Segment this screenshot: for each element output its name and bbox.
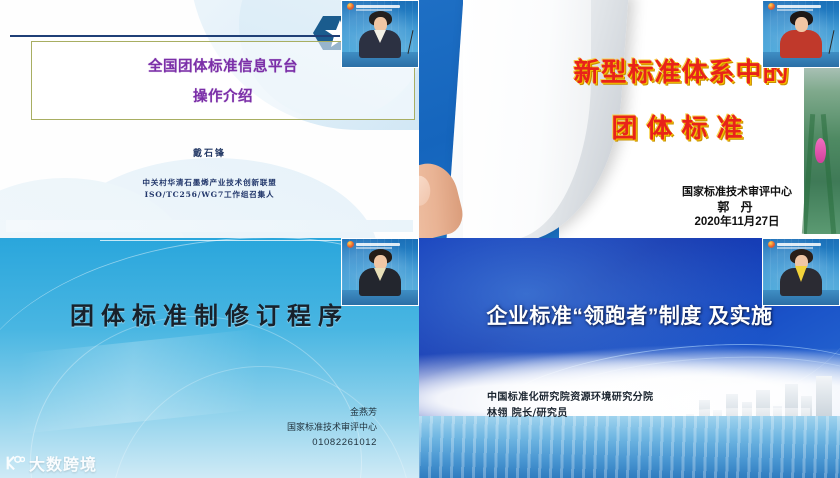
slide1-title-line2: 操作介绍 (193, 85, 253, 106)
slide2-date: 2020年11月27日 (682, 215, 792, 230)
video-person (780, 252, 822, 296)
slide4-presenter: 林翎 院长/研究员 (487, 406, 653, 422)
lotus-flower (815, 138, 826, 163)
video-banner-logo (768, 241, 821, 248)
slide-panel-3[interactable]: 团体标准制修订程序 金燕芳 国家标准技术审评中心 01082261012 大数跨… (0, 238, 419, 478)
fingernail (419, 176, 430, 206)
slide2-presenter: 郭 丹 (682, 200, 792, 215)
speaker-video-female-red[interactable] (762, 0, 840, 68)
slide1-presenter: 戴石锋 (0, 146, 419, 159)
video-person (780, 14, 822, 58)
slide4-meta: 中国标准化研究院资源环境研究分院 林翎 院长/研究员 (487, 390, 653, 422)
slide-panel-4[interactable]: 企业标准“领跑者”制度 及实施 中国标准化研究院资源环境研究分院 林翎 院长/研… (419, 238, 840, 478)
speaker-video-female-dark[interactable] (341, 238, 419, 306)
logo-subtext (356, 247, 392, 249)
speaker-video-male[interactable] (341, 0, 419, 68)
slide-panel-1[interactable]: 全国团体标准信息平台 操作介绍 戴石锋 中关村华清石墨烯产业技术创新联盟 ISO… (0, 0, 419, 238)
slide1-org-block: 中关村华清石墨烯产业技术创新联盟 ISO/TC256/WG7工作组召集人 (0, 177, 419, 201)
person-face (374, 255, 387, 270)
logo-wordmark (777, 5, 821, 8)
slide2-org: 国家标准技术审评中心 (682, 185, 792, 200)
slide-montage-grid: 全国团体标准信息平台 操作介绍 戴石锋 中关村华清石墨烯产业技术创新联盟 ISO… (0, 0, 840, 478)
slide2-title-line2: 团体标准 (559, 108, 804, 145)
water-sparkle (419, 416, 840, 478)
slide-panel-2[interactable]: 新型标准体系中的 团体标准 国家标准技术审评中心 郭 丹 2020年11月27日 (419, 0, 840, 238)
video-person (359, 252, 401, 296)
slide3-org: 国家标准技术审评中心 (287, 420, 377, 435)
person-body (780, 30, 822, 58)
video-banner-logo (768, 3, 821, 10)
slide1-org-line1: 中关村华清石墨烯产业技术创新联盟 (0, 177, 419, 189)
video-banner-logo (347, 3, 400, 10)
lotus-photo-strip (804, 60, 840, 234)
slide1-title-line1: 全国团体标准信息平台 (148, 55, 298, 76)
logo-wordmark (356, 5, 400, 8)
slide2-meta: 国家标准技术审评中心 郭 丹 2020年11月27日 (682, 185, 792, 230)
watermark: 大数跨境 (5, 451, 97, 475)
person-head (793, 14, 810, 33)
slide3-meta: 金燕芳 国家标准技术审评中心 01082261012 (287, 405, 377, 450)
top-bracket-line (100, 240, 359, 293)
logo-wordmark (356, 243, 400, 246)
video-person (359, 14, 401, 58)
slide4-org: 中国标准化研究院资源环境研究分院 (487, 390, 653, 406)
slide3-presenter: 金燕芳 (287, 405, 377, 420)
leaf-blade (821, 114, 836, 234)
slide1-bottom-bar (6, 220, 413, 232)
video-banner-logo (347, 241, 400, 248)
slide3-phone: 01082261012 (287, 435, 377, 450)
logo-globe-icon (347, 3, 354, 10)
speaker-video-female-yellow[interactable] (762, 238, 840, 306)
slide1-org-line2: ISO/TC256/WG7工作组召集人 (0, 189, 419, 201)
person-face (795, 17, 808, 32)
watermark-text: 大数跨境 (29, 451, 97, 475)
title-top-rule (10, 35, 340, 37)
logo-globe-icon (347, 241, 354, 248)
logo-globe-icon (768, 3, 775, 10)
logo-globe-icon (768, 241, 775, 248)
logo-subtext (356, 9, 392, 11)
logo-subtext (777, 9, 813, 11)
person-face (374, 17, 387, 32)
da-shu-kua-jing-logo (5, 453, 25, 473)
logo-wordmark (777, 243, 821, 246)
sea-water (419, 416, 840, 478)
logo-subtext (777, 247, 813, 249)
